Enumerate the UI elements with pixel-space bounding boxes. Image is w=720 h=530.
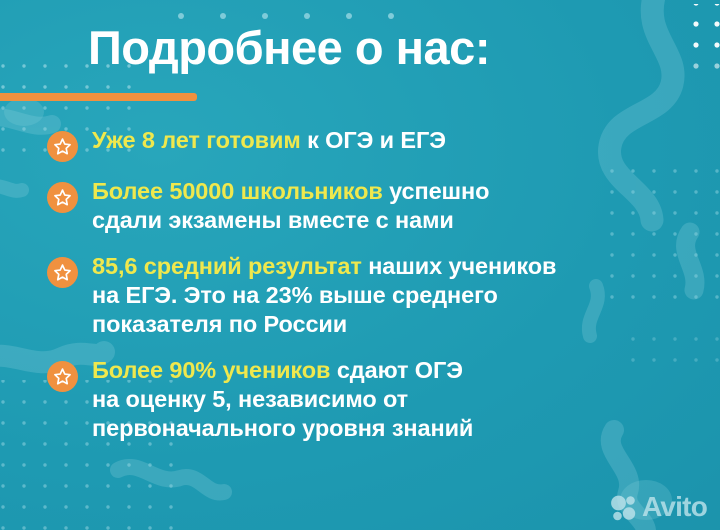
list-item-line: на ЕГЭ. Это на 23% выше среднего [92,281,720,310]
body-text: сдают ОГЭ [337,357,463,383]
body-text: на ЕГЭ. Это на 23% выше среднего [92,282,498,308]
star-icon [47,182,78,213]
body-text: наших учеников [368,253,556,279]
list-item-line: сдали экзамены вместе с нами [92,206,720,235]
list-item-line: 85,6 средний результат наших учеников [92,252,720,281]
list-item-line: показателя по России [92,310,720,339]
list-item-line: на оценку 5, независимо от [92,385,720,414]
body-text: успешно [389,178,489,204]
body-text: показателя по России [92,311,347,337]
avito-wordmark: Avito [642,493,707,521]
body-text: первоначального уровня знаний [92,415,473,441]
list-item-line: Более 50000 школьников успешно [92,177,720,206]
list-item: Уже 8 лет готовим к ОГЭ и ЕГЭ [0,126,720,160]
body-text: к ОГЭ и ЕГЭ [307,127,446,153]
title-underline-rule [0,93,197,101]
promo-poster: Подробнее о нас: Уже 8 лет готовим к ОГЭ… [0,0,720,530]
list-item-line: первоначального уровня знаний [92,414,720,443]
title-block: Подробнее о нас: [0,18,720,77]
list-item-line: Более 90% учеников сдают ОГЭ [92,356,720,385]
highlighted-text: Уже 8 лет готовим [92,127,307,153]
star-icon [47,131,78,162]
avito-watermark: Avito [610,493,707,521]
star-icon [47,257,78,288]
body-text: на оценку 5, независимо от [92,386,408,412]
list-item: Более 90% учеников сдают ОГЭна оценку 5,… [0,356,720,443]
highlighted-text: Более 90% учеников [92,357,337,383]
page-title: Подробнее о нас: [0,18,720,77]
body-text: сдали экзамены вместе с нами [92,207,454,233]
benefits-list: Уже 8 лет готовим к ОГЭ и ЕГЭБолее 50000… [0,126,720,460]
highlighted-text: Более 50000 школьников [92,178,389,204]
list-item: 85,6 средний результат наших учениковна … [0,252,720,339]
avito-dots-logo-icon [610,494,637,521]
list-item-line: Уже 8 лет готовим к ОГЭ и ЕГЭ [92,126,720,155]
list-item: Более 50000 школьников успешносдали экза… [0,177,720,235]
star-icon [47,361,78,392]
highlighted-text: 85,6 средний результат [92,253,368,279]
